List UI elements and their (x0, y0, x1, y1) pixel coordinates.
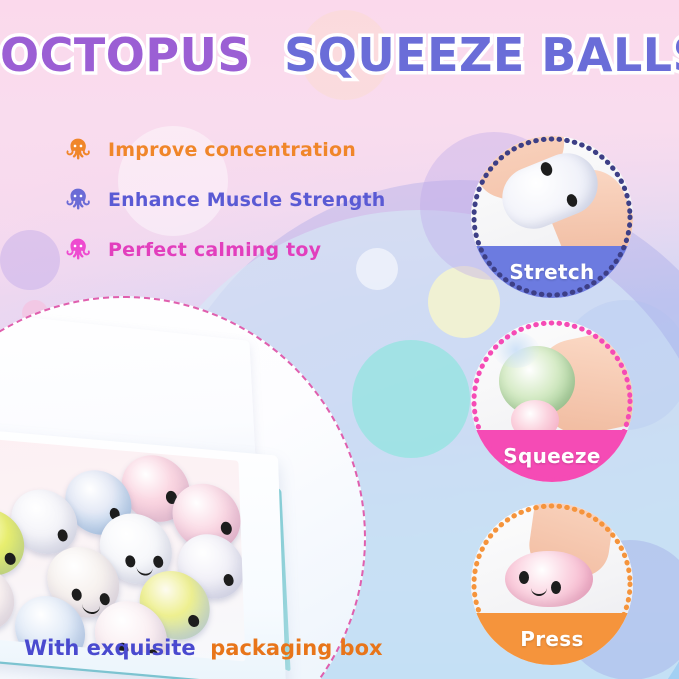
product-infographic: OCTOPUS SQUEEZE BALLS Improve concentrat… (0, 0, 679, 679)
ball-eye (223, 574, 233, 587)
page-title: OCTOPUS SQUEEZE BALLS (0, 28, 679, 82)
ball-eye (188, 614, 199, 627)
feature-card-squeeze[interactable]: Squeeze (471, 320, 633, 482)
box-interior (0, 434, 245, 661)
ball-eye (551, 581, 561, 594)
octopus-icon (64, 186, 92, 214)
ball-eye (153, 555, 163, 568)
feature-label: Squeeze (503, 444, 600, 468)
background-blob-mint (352, 340, 470, 458)
benefit-label: Perfect calming toy (108, 239, 321, 261)
feature-card-stretch[interactable]: Stretch (471, 136, 633, 298)
feature-banner-squeeze: Squeeze (471, 430, 633, 482)
feature-label: Press (520, 627, 583, 651)
bead-burst (493, 332, 539, 368)
title-word-squeeze-balls: SQUEEZE BALLS (284, 28, 679, 82)
benefits-list: Improve concentration Enhance Muscle Str… (64, 136, 386, 264)
caption-part-2: packaging box (210, 636, 382, 660)
feature-banner-stretch: Stretch (471, 246, 633, 298)
feature-banner-press: Press (471, 613, 633, 665)
ball-eye (221, 521, 232, 535)
octopus-icon (64, 136, 92, 164)
ball-mouth (82, 603, 100, 615)
benefit-item-enhance-muscle-strength: Enhance Muscle Strength (64, 186, 386, 214)
ball-eye (4, 552, 15, 565)
ball-mouth (136, 566, 152, 576)
caption-part-1: With exquisite (24, 636, 196, 660)
benefit-item-improve-concentration: Improve concentration (64, 136, 386, 164)
product-photo (0, 296, 366, 679)
ball-eye (71, 588, 81, 601)
ball-eye (57, 529, 67, 542)
benefit-label: Improve concentration (108, 139, 356, 161)
ball-eye (125, 555, 135, 568)
ball-eye (519, 571, 529, 584)
octopus-icon (64, 236, 92, 264)
product-photo-caption: With exquisite packaging box (24, 636, 383, 660)
background-blob-pink (0, 230, 60, 290)
title-word-octopus: OCTOPUS (0, 28, 251, 82)
feature-card-press[interactable]: Press (471, 503, 633, 665)
benefit-label: Enhance Muscle Strength (108, 189, 386, 211)
ball-eye (100, 593, 110, 606)
benefit-item-perfect-calming-toy: Perfect calming toy (64, 236, 386, 264)
feature-label: Stretch (509, 260, 594, 284)
packaging-box-illustration (0, 298, 364, 679)
